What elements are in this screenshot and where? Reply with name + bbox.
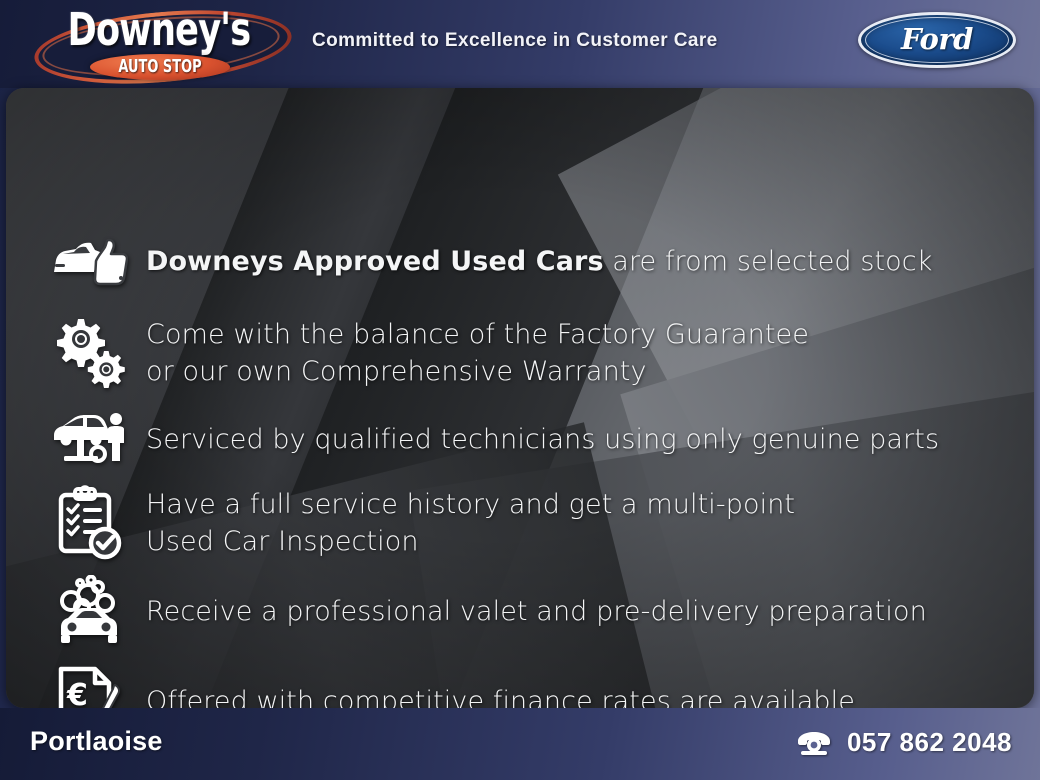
phone-number: 057 862 2048 [847, 727, 1012, 758]
footer-bar: Portlaoise 057 862 2048 [0, 708, 1040, 780]
downeys-auto-stop-logo[interactable]: Downey's AUTO STOP [28, 4, 290, 84]
used-car-promo-poster: Downey's AUTO STOP Committed to Excellen… [0, 0, 1040, 780]
feature-row: Receive a professional valet and pre-del… [50, 578, 927, 644]
euro-document-pen-icon: € [50, 668, 128, 708]
feature-row: Have a full service history and get a mu… [50, 486, 795, 560]
gears-icon [50, 320, 128, 386]
tagline: Committed to Excellence in Customer Care [312, 30, 718, 52]
car-lift-technician-icon [50, 406, 128, 472]
feature-row: Serviced by qualified technicians using … [50, 406, 939, 472]
feature-text: Offered with competitive finance rates a… [146, 683, 855, 709]
feature-text-rest: are from selected stock [604, 246, 933, 277]
feature-text: Come with the balance of the Factory Gua… [146, 316, 809, 390]
feature-text-line: Come with the balance of the Factory Gua… [146, 316, 809, 353]
car-wash-icon [50, 578, 128, 644]
content-panel: Downeys Approved Used Cars are from sele… [6, 88, 1034, 708]
logo-wordmark: Downey's [57, 6, 261, 54]
feature-text-line: or our own Comprehensive Warranty [146, 353, 809, 390]
feature-text-bold: Downeys Approved Used Cars [146, 246, 604, 277]
telephone-icon [795, 730, 833, 756]
feature-text-line: Used Car Inspection [146, 523, 795, 560]
feature-row: Come with the balance of the Factory Gua… [50, 316, 809, 390]
clipboard-checklist-icon [50, 490, 128, 556]
branch-location: Portlaoise [30, 726, 163, 757]
feature-text: Receive a professional valet and pre-del… [146, 593, 927, 630]
car-thumbs-up-icon [50, 228, 128, 294]
feature-row: Downeys Approved Used Cars are from sele… [50, 228, 932, 294]
feature-text: Downeys Approved Used Cars are from sele… [146, 243, 932, 280]
ford-wordmark: Ford [858, 12, 1016, 68]
svg-text:€: € [66, 678, 88, 708]
feature-list: Downeys Approved Used Cars are from sele… [6, 88, 1034, 708]
ford-oval-logo[interactable]: Ford [858, 12, 1016, 68]
header-bar: Downey's AUTO STOP Committed to Excellen… [0, 0, 1040, 88]
feature-text-line: Have a full service history and get a mu… [146, 486, 795, 523]
logo-subtitle: AUTO STOP [110, 56, 211, 78]
feature-row: € Offered with competitive finance rates… [50, 668, 855, 708]
feature-text: Serviced by qualified technicians using … [146, 421, 939, 458]
phone-contact[interactable]: 057 862 2048 [795, 727, 1012, 758]
feature-text: Have a full service history and get a mu… [146, 486, 795, 560]
